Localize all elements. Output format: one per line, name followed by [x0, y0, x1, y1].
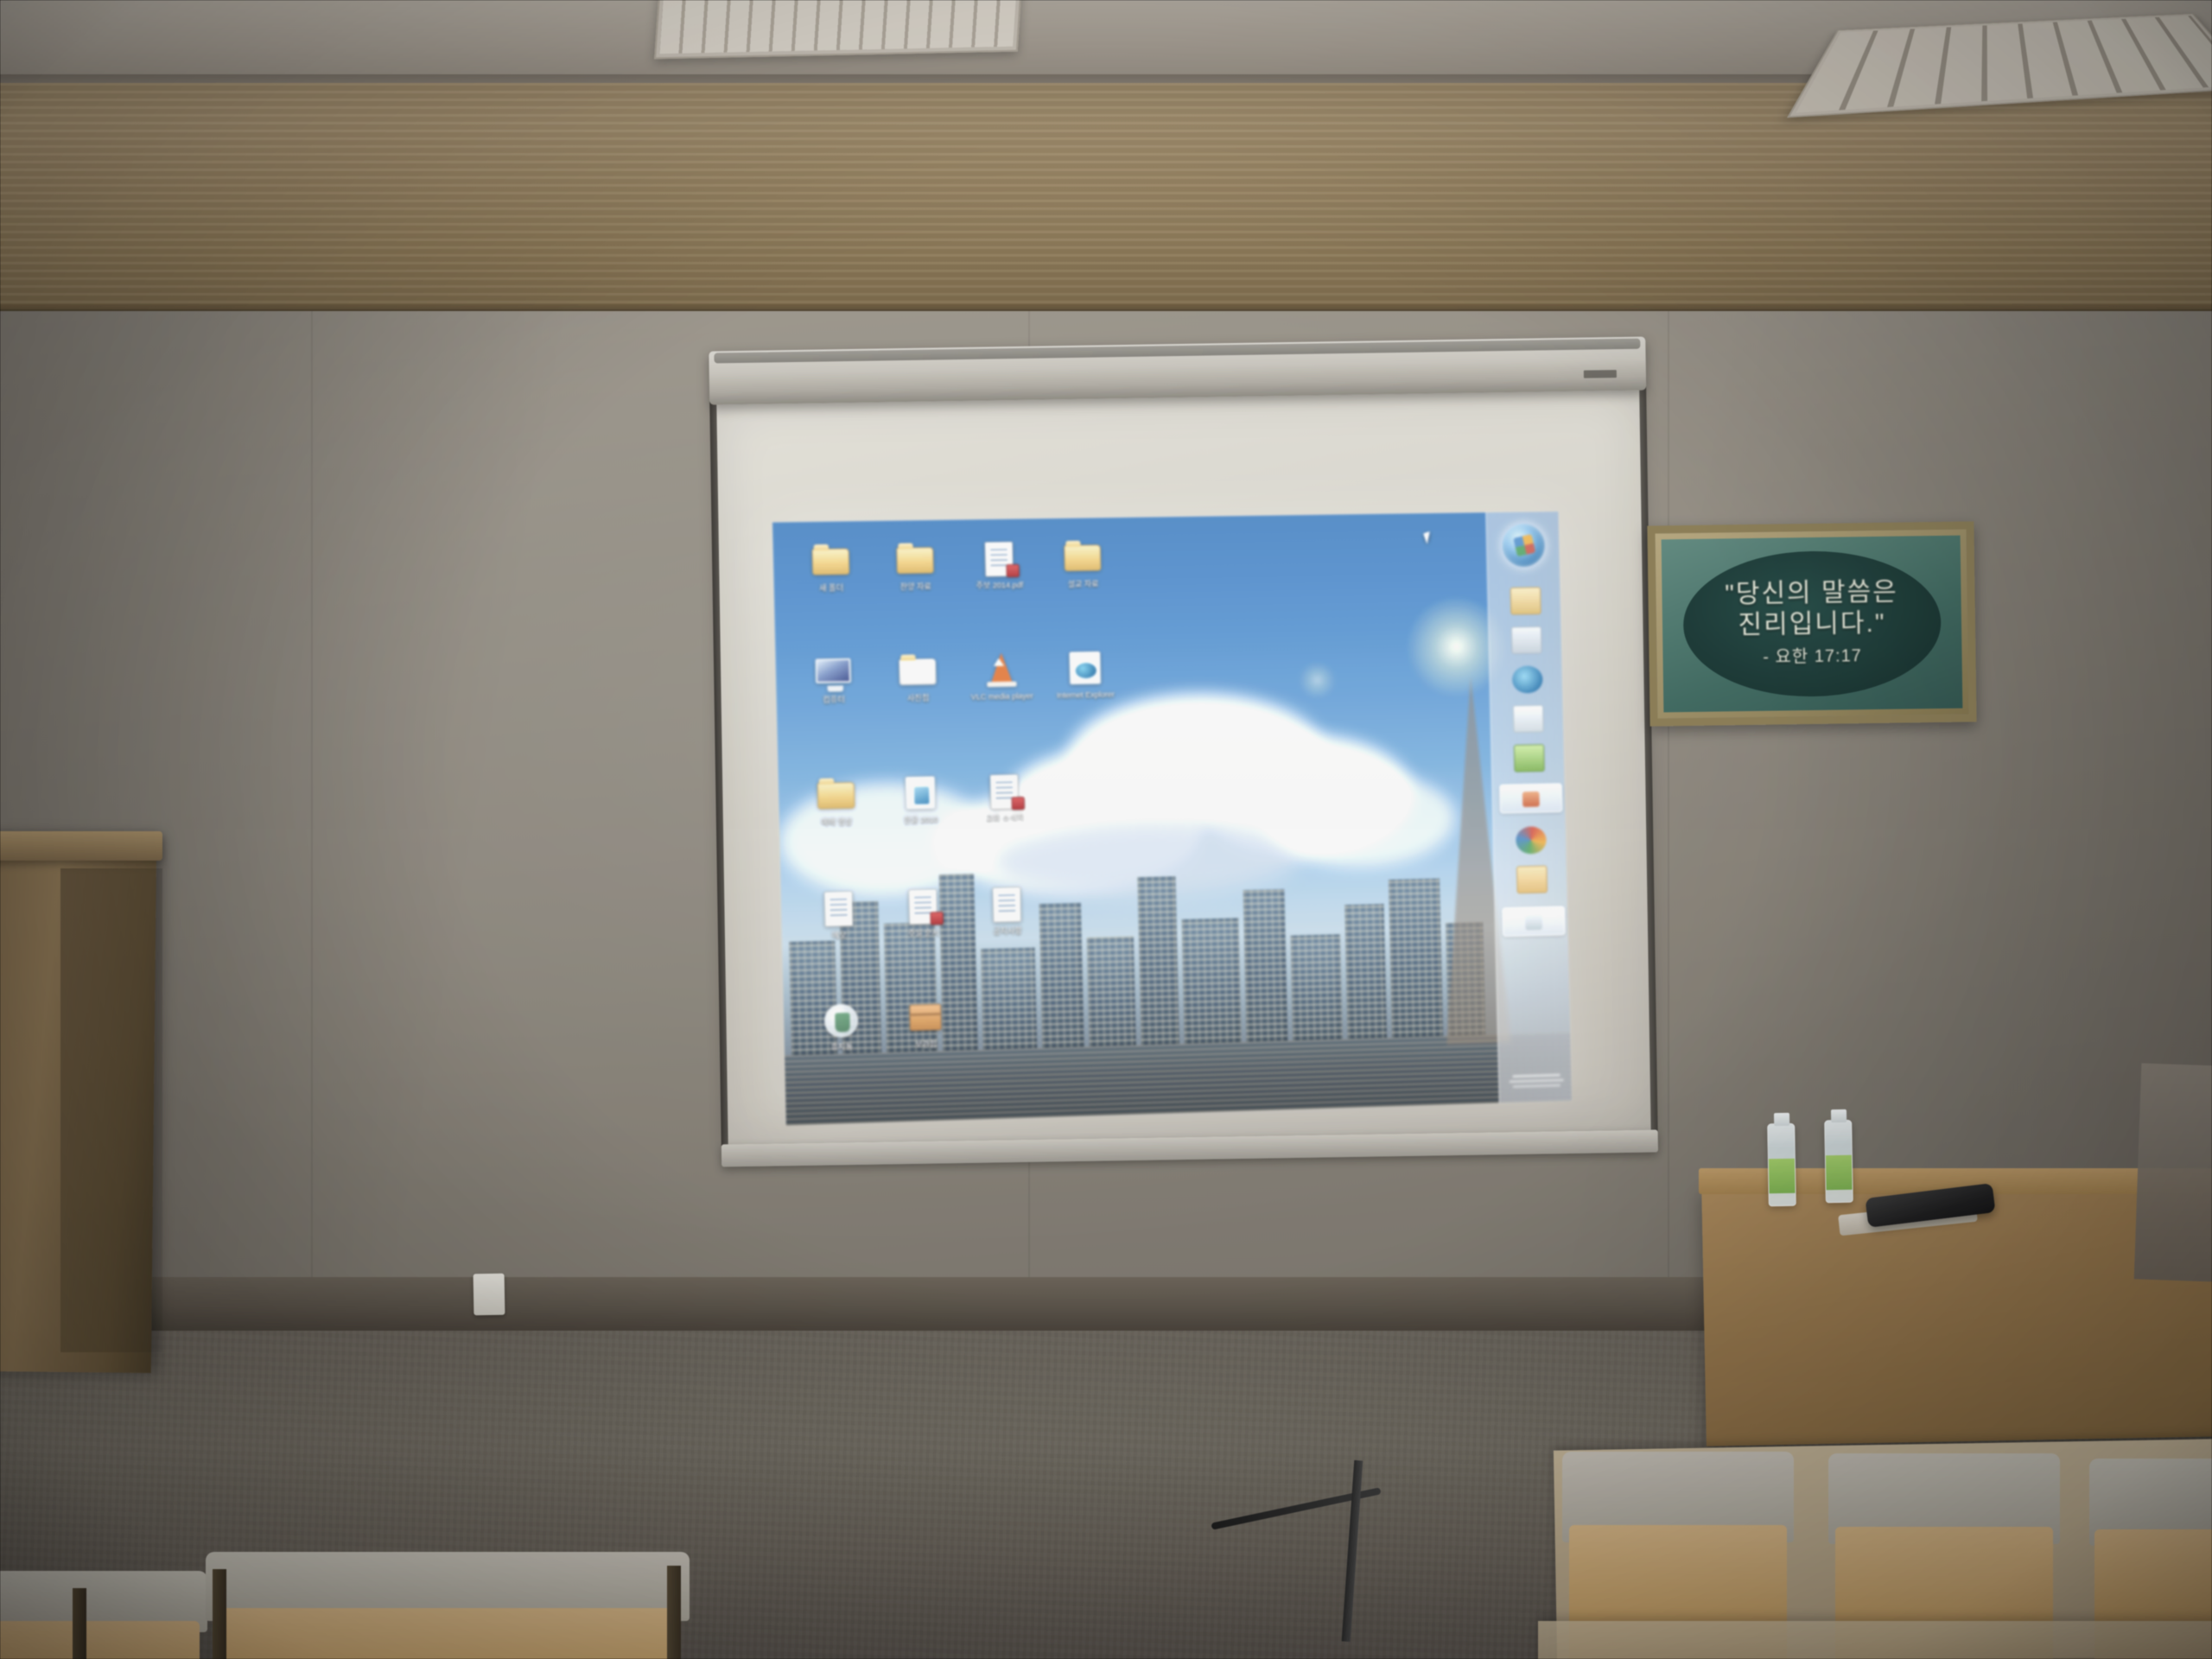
desktop-icon-doc-2[interactable]: 공지사항	[965, 883, 1048, 937]
taskbar-icon-folder[interactable]	[1516, 866, 1548, 894]
folder-icon	[894, 539, 936, 580]
running-app-icon	[1522, 791, 1540, 807]
document-icon	[987, 883, 1027, 924]
desktop-icon-recycle-bin[interactable]: 휴지통	[799, 999, 883, 1052]
light-louver-icon	[659, 0, 1016, 54]
desktop-icon-pdf-1[interactable]: 주보 2014.pdf	[957, 537, 1040, 590]
projected-windows-desktop[interactable]: 새 폴더 찬양 자료 주보 2014.pdf 설교 자료 컴퓨터 사진첩	[772, 512, 1572, 1126]
app-icon	[899, 772, 941, 813]
podium-side-shadow	[60, 868, 162, 1352]
desktop-icon-label: 사진첩	[877, 693, 960, 703]
system-tray-clock[interactable]	[1504, 1071, 1569, 1090]
desktop-icon-label: 교회 소식지	[963, 813, 1046, 823]
bottle-cap-icon	[1831, 1109, 1847, 1122]
chair	[0, 1571, 207, 1659]
vlc-cone-icon	[981, 649, 1021, 690]
bottle-cap-icon	[1774, 1113, 1789, 1126]
wall-seam	[1668, 311, 1669, 1331]
desktop-icon-pdf-2[interactable]: 교회 소식지	[963, 770, 1046, 823]
taskbar-icon-mail[interactable]	[1513, 705, 1544, 733]
electrical-outlet[interactable]	[474, 1274, 505, 1316]
desktop-icon-doc-1[interactable]: 메모	[797, 887, 880, 941]
wall-side-panel	[2134, 1063, 2212, 1281]
desktop-icon-folder-2[interactable]: 찬양 자료	[874, 539, 957, 592]
ceiling-light-fixture-left	[654, 0, 1022, 59]
running-app-icon	[1525, 914, 1542, 930]
chair	[206, 1552, 690, 1659]
pdf-document-icon	[902, 886, 944, 927]
taskbar-button-app-2[interactable]	[1502, 906, 1565, 938]
screen-brand-logo	[1584, 370, 1617, 378]
podium-top-surface	[0, 831, 162, 861]
recycle-bin-icon	[821, 999, 862, 1040]
desktop-icon-folder-4[interactable]: 사진첩	[876, 651, 960, 703]
desktop-icon-label: 찬양 자료	[874, 582, 957, 592]
bottle-label	[1769, 1159, 1796, 1194]
plaque-field: "당신의 말씀은 진리입니다." - 요한 17:17	[1662, 536, 1963, 713]
desktop-icon-label: 컴퓨터	[792, 695, 875, 705]
chair-leg	[667, 1566, 681, 1659]
chair-leg	[73, 1588, 86, 1659]
water-bottle[interactable]	[1767, 1123, 1796, 1207]
taskbar-icon-media[interactable]	[1511, 626, 1542, 654]
bottle-label	[1826, 1155, 1853, 1191]
windows-taskbar-vertical-right[interactable]	[1485, 512, 1572, 1103]
start-button[interactable]	[1502, 524, 1545, 567]
pdf-document-icon	[978, 538, 1019, 579]
folder-icon	[1062, 537, 1103, 577]
plaque-line-1: "당신의 말씀은	[1662, 576, 1961, 612]
chair-back	[220, 1608, 675, 1659]
table-front-edge	[1538, 1621, 2212, 1659]
desktop-icon-folder-3[interactable]: 설교 자료	[1041, 537, 1124, 589]
my-computer-icon	[812, 652, 854, 693]
plaque-text-block: "당신의 말씀은 진리입니다." - 요한 17:17	[1662, 576, 1961, 672]
desktop-icon-folder-1[interactable]: 새 폴더	[789, 540, 873, 593]
taskbar-button-app-1[interactable]	[1499, 783, 1562, 813]
desktop-icon-label: Internet Explorer	[1045, 690, 1127, 700]
plaque-line-2: 진리입니다."	[1662, 607, 1961, 643]
tray-date	[1504, 1071, 1568, 1072]
pdf-document-icon	[984, 771, 1025, 811]
archive-box-icon	[905, 997, 946, 1039]
folder-icon	[810, 541, 851, 582]
windows-logo-icon	[1513, 534, 1535, 556]
desktop-icon-label: 주보 2014.pdf	[958, 581, 1040, 591]
water-bottle[interactable]	[1824, 1120, 1853, 1204]
desktop-icon-label: VLC media player	[961, 691, 1043, 702]
desktop-icon-folder-5[interactable]: 예배 영상	[794, 774, 878, 828]
taskbar-icon-office[interactable]	[1514, 744, 1545, 772]
desktop-icon-label: 새 폴더	[790, 583, 873, 594]
desktop-icon-app-blue[interactable]: 한글 2010	[879, 772, 963, 825]
desktop-icon-vlc[interactable]: VLC media player	[960, 649, 1043, 702]
folder-icon	[816, 774, 857, 815]
desktop-icon-ie[interactable]: Internet Explorer	[1044, 647, 1127, 700]
document-icon	[818, 887, 860, 929]
chair-back	[0, 1621, 200, 1659]
chair-leg	[213, 1569, 226, 1659]
internet-explorer-icon	[1065, 648, 1105, 689]
taskbar-icon-browser[interactable]	[1512, 665, 1543, 693]
desktop-icon-box[interactable]: 보관함	[884, 996, 968, 1050]
plaque-line-3: - 요한 17:17	[1662, 642, 1961, 672]
taskbar-icon-chrome[interactable]	[1516, 826, 1547, 854]
tray-time	[1504, 1071, 1568, 1072]
wall-seam	[311, 311, 313, 1331]
desktop-icon-pdf-3[interactable]: 주일 순서	[881, 885, 965, 938]
taskbar-icon-explorer[interactable]	[1510, 587, 1541, 614]
folder-icon	[897, 651, 938, 691]
desktop-icon-label: 설교 자료	[1042, 579, 1124, 589]
projection-screen-assembly: 새 폴더 찬양 자료 주보 2014.pdf 설교 자료 컴퓨터 사진첩	[709, 337, 1658, 1202]
scripture-wall-plaque: "당신의 말씀은 진리입니다." - 요한 17:17	[1647, 521, 1976, 726]
meeting-room-photo: 새 폴더 찬양 자료 주보 2014.pdf 설교 자료 컴퓨터 사진첩	[0, 0, 2212, 1659]
wood-valance-band	[0, 83, 2212, 309]
desktop-icon-computer[interactable]: 컴퓨터	[791, 652, 875, 704]
